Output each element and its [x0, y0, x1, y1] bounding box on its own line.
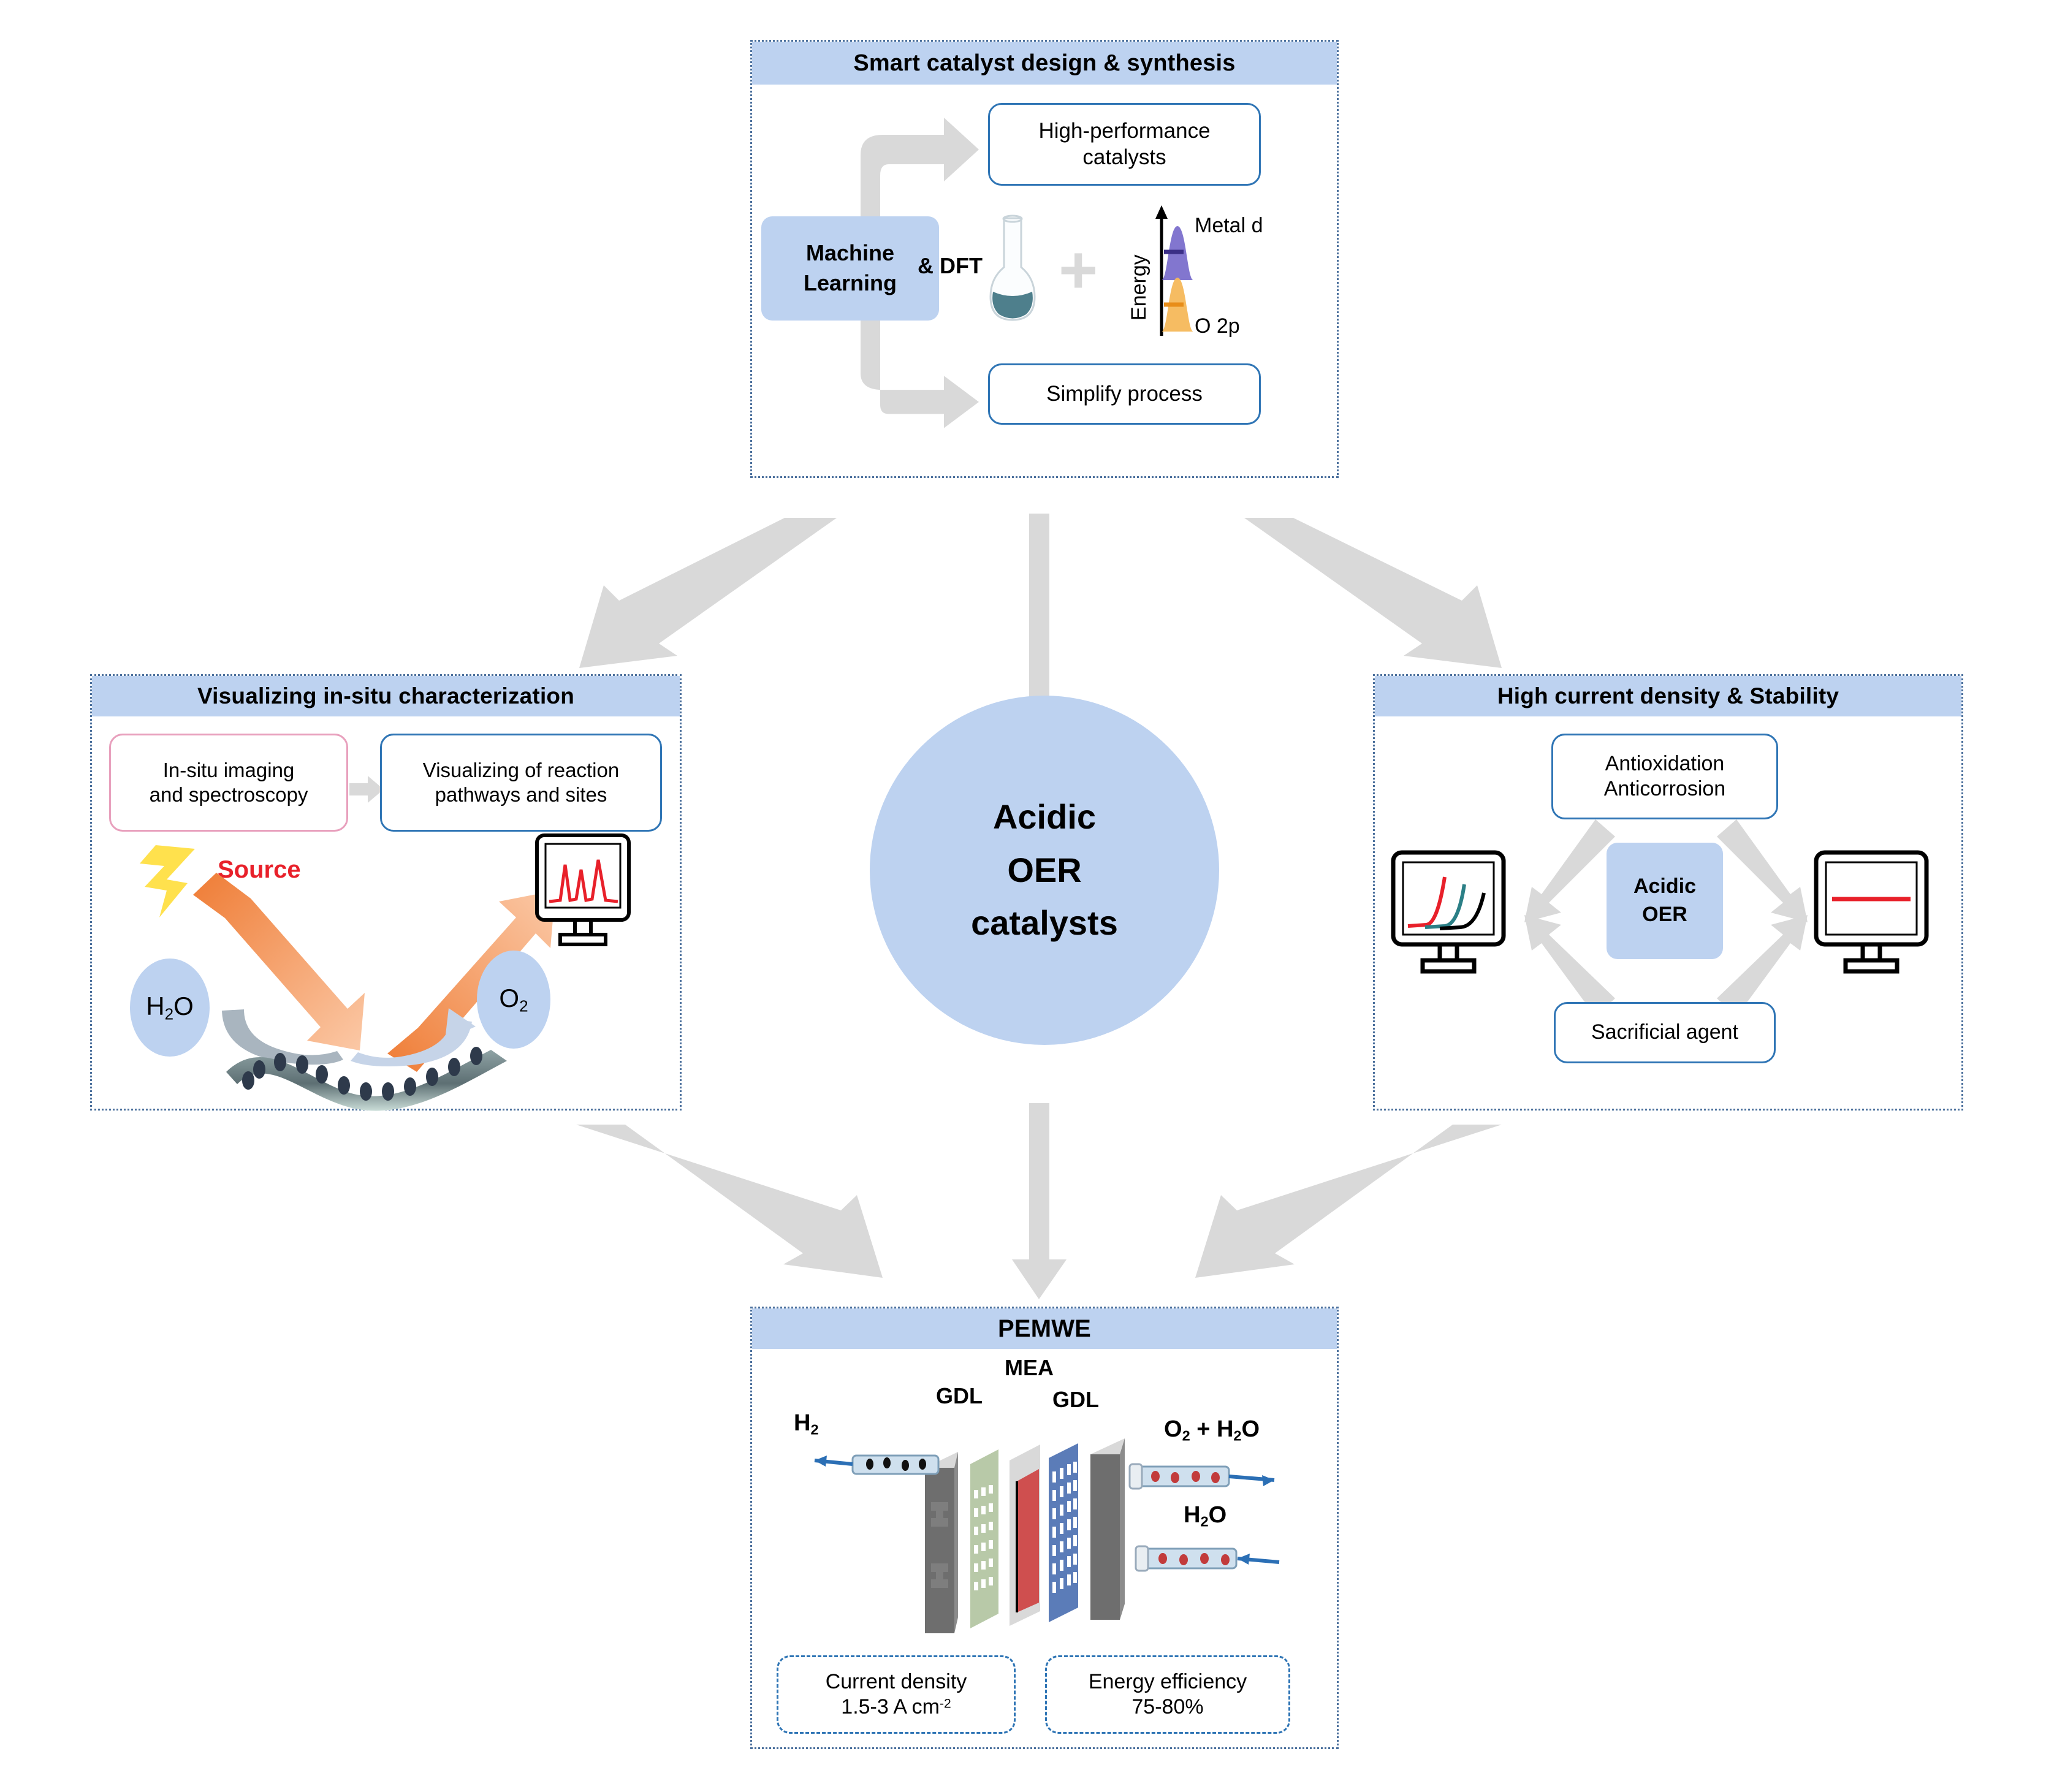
metric-line-1: Energy efficiency: [1089, 1669, 1247, 1695]
bubble-h2o-label: H2O: [146, 992, 194, 1023]
box-sacrificial-agent[interactable]: Sacrificial agent: [1554, 1002, 1776, 1063]
metric-line-1: Current density: [826, 1669, 967, 1695]
box-high-performance-catalysts[interactable]: High-performance catalysts: [988, 103, 1261, 186]
panel-body-high-current-density: Antioxidation Anticorrosion Acidic OER: [1375, 716, 1961, 1112]
panel-title-visualizing-in-situ: Visualizing in-situ characterization: [92, 676, 680, 716]
lsv-curves-monitor-icon: [1388, 850, 1517, 979]
box-line-2: pathways and sites: [435, 783, 607, 807]
box-simplify-process[interactable]: Simplify process: [988, 363, 1261, 425]
box-energy-efficiency[interactable]: Energy efficiency 75-80%: [1045, 1655, 1290, 1734]
tube-o2-h2o-outlet: [1130, 1464, 1274, 1489]
arrow-left-to-bottom: [576, 1125, 883, 1278]
chip-line-1: Machine: [806, 238, 894, 268]
panel-body-visualizing-in-situ: In-situ imaging and spectroscopy Visuali…: [92, 716, 680, 1112]
right-panel-diagonal-arrows: [1522, 814, 1810, 1023]
tube-h2-outlet: [815, 1456, 938, 1474]
panel-title-high-current-density: High current density & Stability: [1375, 676, 1961, 716]
bubble-o2: O2: [477, 951, 550, 1049]
box-line-2: and spectroscopy: [150, 783, 308, 807]
dos-axis-label: Energy: [1127, 254, 1150, 321]
panel-body-pemwe: GDL MEA GDL H2 O2 + H2O H2O: [752, 1349, 1337, 1751]
arrow-right-to-bottom: [1195, 1125, 1502, 1278]
arrow-top-to-center: [1029, 514, 1049, 697]
label-gdl-left: GDL: [936, 1383, 983, 1409]
pemwe-cell-stack: [789, 1429, 1304, 1661]
panel-title-pemwe: PEMWE: [752, 1308, 1337, 1349]
box-line-1: Simplify process: [1046, 381, 1203, 408]
dos-energy-plot: Energy Metal d O 2p: [1120, 204, 1322, 342]
bubble-h2o: H2O: [130, 959, 210, 1057]
elbow-arrow-down-icon: [853, 339, 994, 452]
center-line-3: catalysts: [971, 897, 1118, 950]
label-gdl-right: GDL: [1052, 1387, 1099, 1413]
panel-high-current-density: High current density & Stability Antioxi…: [1373, 674, 1963, 1111]
chronopotentiometry-monitor-icon: [1811, 850, 1940, 979]
bubble-o2-label: O2: [499, 984, 528, 1016]
box-line-2: Anticorrosion: [1604, 776, 1725, 802]
panel-smart-catalyst-design: Smart catalyst design & synthesis High-p…: [750, 40, 1339, 478]
box-current-density[interactable]: Current density 1.5-3 A cm-2: [777, 1655, 1016, 1734]
elbow-arrow-up-icon: [853, 109, 994, 226]
box-antioxidation-anticorrosion[interactable]: Antioxidation Anticorrosion: [1551, 734, 1778, 819]
label-mea: MEA: [1005, 1355, 1054, 1381]
arrow-center-to-bottom: [1012, 1103, 1067, 1299]
panel-body-smart-catalyst: High-performance catalysts Machine Learn…: [752, 85, 1337, 480]
metric-line-2: 75-80%: [1131, 1695, 1203, 1720]
center-node-acidic-oer-catalysts[interactable]: Acidic OER catalysts: [870, 696, 1219, 1045]
box-line-1: Sacrificial agent: [1591, 1020, 1738, 1045]
box-line-1: Antioxidation: [1605, 751, 1725, 776]
box-line-2: catalysts: [1082, 145, 1166, 171]
box-visualizing-reaction-pathways[interactable]: Visualizing of reaction pathways and sit…: [380, 734, 662, 832]
spectrum-monitor-icon: [533, 833, 644, 946]
box-line-1: Visualizing of reaction: [423, 758, 619, 783]
center-line-1: Acidic: [993, 791, 1096, 844]
dos-series-label-o2p: O 2p: [1195, 314, 1240, 338]
box-line-1: In-situ imaging: [163, 758, 295, 783]
plus-icon: +: [1059, 237, 1098, 304]
box-in-situ-imaging[interactable]: In-situ imaging and spectroscopy: [109, 734, 348, 832]
panel-title-smart-catalyst: Smart catalyst design & synthesis: [752, 42, 1337, 85]
tube-h2o-inlet: [1136, 1546, 1279, 1571]
panel-visualizing-in-situ: Visualizing in-situ characterization In-…: [90, 674, 682, 1111]
reaction-flask-icon: [976, 215, 1049, 328]
panel-pemwe: PEMWE GDL MEA GDL H2 O2 + H2O H2O: [750, 1307, 1339, 1749]
catalyst-surface-ribbon: [224, 1040, 530, 1117]
arrow-top-to-left: [579, 518, 837, 668]
box-line-1: High-performance: [1038, 118, 1210, 145]
chip-line-2: Learning: [804, 268, 897, 298]
dos-series-label-metal-d: Metal d: [1195, 214, 1263, 237]
metric-line-2: 1.5-3 A cm-2: [841, 1695, 951, 1720]
label-and-dft: & DFT: [918, 253, 983, 279]
center-line-2: OER: [1007, 844, 1081, 897]
chip-machine-learning[interactable]: Machine Learning: [761, 216, 939, 321]
arrow-top-to-right: [1244, 518, 1502, 668]
